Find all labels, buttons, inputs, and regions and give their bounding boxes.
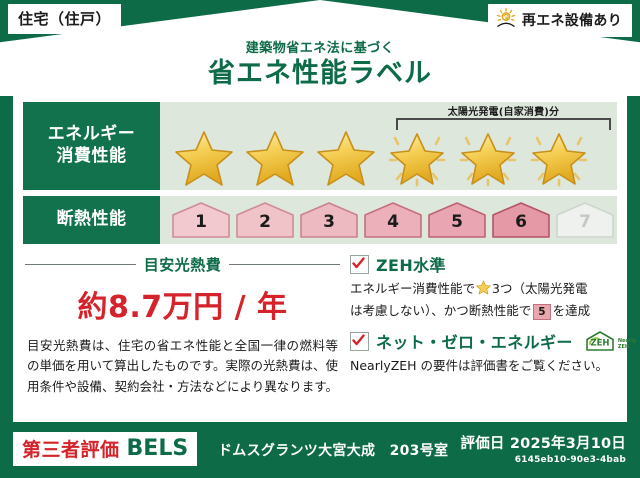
star-rating	[168, 130, 613, 186]
star-icon	[168, 129, 239, 187]
title-block: 建築物省エネ法に基づく 省エネ性能ラベル	[0, 42, 640, 91]
insulation-level-value: 1	[170, 212, 232, 232]
net-zero-energy-header: ネット・ゼロ・エネルギー ZEH NearlyZEH	[350, 329, 636, 353]
star-icon-solar	[452, 129, 523, 187]
zeh-desc-star-count: 3つ（太陽光発電	[492, 281, 587, 296]
insulation-level-value: 7	[554, 212, 616, 232]
check-icon	[350, 332, 369, 351]
energy-label-line2: 消費性能	[57, 146, 127, 166]
star-icon	[310, 129, 381, 187]
house-icon: 3	[298, 201, 360, 239]
insulation-level-value: 2	[234, 212, 296, 232]
footer-bar: 第三者評価 BELS ドムスグランツ大宮大成 203号室 評価日 2025年3月…	[0, 422, 640, 478]
check-icon	[350, 255, 369, 274]
insulation-performance-row: 断熱性能 1 2	[23, 196, 617, 244]
house-icon: 5	[426, 201, 488, 239]
label-title: 省エネ性能ラベル	[0, 57, 640, 91]
star-icon-solar	[381, 129, 452, 187]
insulation-level-value: 3	[298, 212, 360, 232]
zeh-desc-part1: エネルギー消費性能で	[350, 281, 475, 296]
label-body-card: エネルギー 消費性能 太陽光発電(自家消費)分	[13, 92, 627, 422]
evaluation-id: 6145eb10-90e3-4bab	[461, 455, 626, 465]
house-icon: 1	[170, 201, 232, 239]
zeh-panel: ZEH水準 エネルギー消費性能で3つ（太陽光発電は考慮しない）、かつ断熱性能で5…	[340, 252, 636, 412]
insulation-level-value: 5	[426, 212, 488, 232]
lower-section: 目安光熱費 約8.7万円 / 年 目安光熱費は、住宅の省エネ性能と全国一律の燃料…	[25, 252, 615, 412]
zeh-desc-part3: を達成	[553, 303, 591, 318]
zeh-standard-description: エネルギー消費性能で3つ（太陽光発電は考慮しない）、かつ断熱性能で5を達成	[350, 279, 636, 321]
utility-cost-heading: 目安光熱費	[25, 254, 340, 275]
renewable-energy-badge: 再エネ設備あり	[488, 4, 632, 37]
solar-caption: 太陽光発電(自家消費)分	[396, 103, 611, 118]
star-icon	[239, 129, 310, 187]
house-icon: 6	[490, 201, 552, 239]
house-icon: 4	[362, 201, 424, 239]
insulation-scale: 1 2 3	[170, 201, 616, 239]
energy-performance-row: エネルギー 消費性能 太陽光発電(自家消費)分	[23, 102, 617, 190]
bels-en-label: BELS	[127, 436, 189, 461]
net-zero-energy-item: ネット・ゼロ・エネルギー ZEH NearlyZEH	[350, 329, 636, 376]
zeh-standard-title: ZEH水準	[376, 252, 446, 276]
energy-label-line1: エネルギー	[48, 124, 136, 144]
house-icon-empty: 7	[554, 201, 616, 239]
net-zero-energy-description: NearlyZEH の要件は評価書をご覧ください。	[350, 356, 636, 376]
insulation-level-value: 4	[362, 212, 424, 232]
zeh-standard-item: ZEH水準 エネルギー消費性能で3つ（太陽光発電は考慮しない）、かつ断熱性能で5…	[350, 252, 636, 321]
net-zero-energy-title: ネット・ゼロ・エネルギー	[376, 329, 573, 353]
divider-right	[229, 264, 340, 265]
utility-cost-note: 目安光熱費は、住宅の省エネ性能と全国一律の燃料等の単価を用いて算出したものです。…	[25, 336, 340, 397]
renewable-energy-badge-label: 再エネ設備あり	[522, 10, 622, 30]
utility-cost-value: 約8.7万円 / 年	[25, 282, 340, 326]
zeh-desc-part2: は考慮しない）、かつ断熱性能で	[350, 303, 531, 318]
insulation-performance-label: 断熱性能	[23, 196, 160, 244]
star-icon	[476, 283, 491, 298]
sun-icon	[495, 7, 517, 33]
divider-left	[25, 264, 136, 265]
house-icon: 2	[234, 201, 296, 239]
bels-jp-label: 第三者評価	[22, 435, 120, 462]
energy-performance-label: 住宅（住戸） 再エネ設備あり 建築物省エネ法に基づく 省エネ性	[0, 0, 640, 478]
insulation-performance-value: 1 2 3	[160, 196, 617, 244]
zeh-standard-header: ZEH水準	[350, 252, 636, 276]
building-name: ドムスグランツ大宮大成 203号室	[218, 440, 448, 460]
utility-cost-heading-label: 目安光熱費	[144, 254, 222, 275]
utility-cost-panel: 目安光熱費 約8.7万円 / 年 目安光熱費は、住宅の省エネ性能と全国一律の燃料…	[25, 252, 340, 412]
label-subtitle: 建築物省エネ法に基づく	[0, 42, 640, 56]
house-type-badge: 住宅（住戸）	[8, 4, 121, 34]
bels-logo: 第三者評価 BELS	[13, 432, 197, 466]
star-icon-solar	[523, 129, 594, 187]
energy-performance-label: エネルギー 消費性能	[23, 102, 160, 190]
energy-performance-value: 太陽光発電(自家消費)分	[160, 102, 617, 190]
insulation-level-badge: 5	[533, 304, 550, 320]
svg-text:ZEH: ZEH	[590, 339, 609, 349]
evaluation-date: 評価日 2025年3月10日	[461, 432, 626, 453]
zeh-house-logo-icon: ZEH NearlyZEH	[584, 330, 636, 352]
insulation-level-value: 6	[490, 212, 552, 232]
evaluation-info: 評価日 2025年3月10日 6145eb10-90e3-4bab	[461, 432, 626, 465]
zeh-logo-subtext: NearlyZEH	[618, 339, 636, 352]
